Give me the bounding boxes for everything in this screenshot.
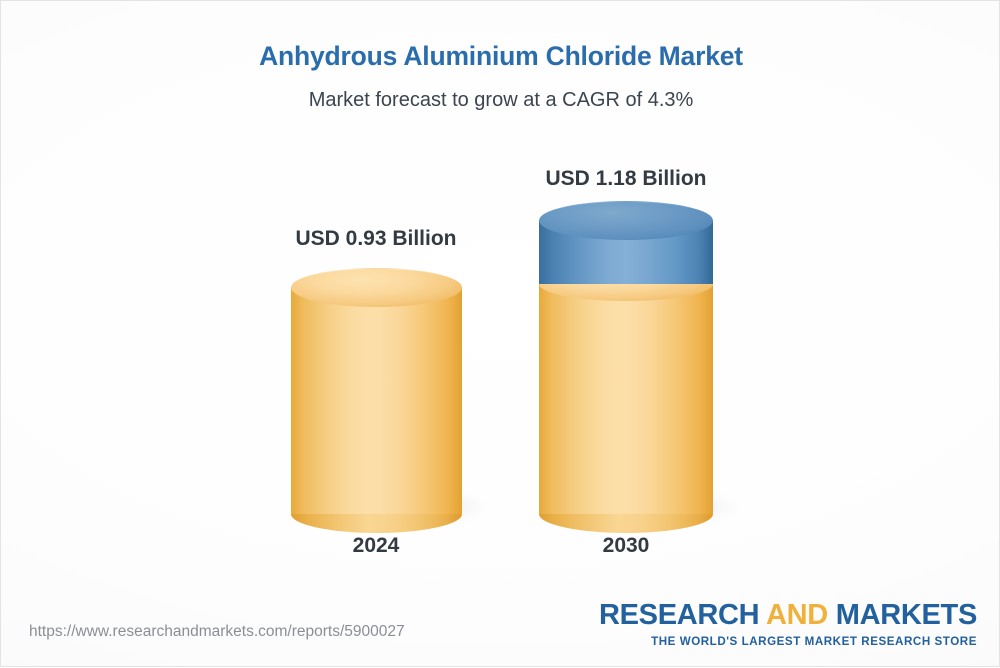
cylinder-2030-top-cap (539, 201, 713, 240)
data-label-2024: USD 0.93 Billion (226, 227, 526, 251)
logo-word-markets: MARKETS (828, 599, 977, 631)
logo-word-research: RESEARCH (599, 599, 766, 631)
cylinder-2030-body-base (539, 283, 713, 514)
chart-canvas: Anhydrous Aluminium Chloride Market Mark… (0, 0, 1000, 667)
research-and-markets-logo[interactable]: RESEARCH AND MARKETS THE WORLD'S LARGEST… (599, 601, 977, 648)
source-url[interactable]: https://www.researchandmarkets.com/repor… (29, 623, 405, 641)
category-label-2030: 2030 (476, 534, 776, 558)
data-label-2030: USD 1.18 Billion (476, 167, 776, 191)
cylinder-2024-top-cap (291, 268, 462, 307)
logo-word-and: AND (766, 599, 828, 631)
logo-wordmark: RESEARCH AND MARKETS (599, 601, 977, 630)
logo-tagline: THE WORLD'S LARGEST MARKET RESEARCH STOR… (599, 636, 977, 648)
cylinder-2024-body-base (291, 287, 462, 514)
chart-plot-area: USD 0.93 Billion 2024 USD 1.18 Billion (1, 1, 1000, 668)
